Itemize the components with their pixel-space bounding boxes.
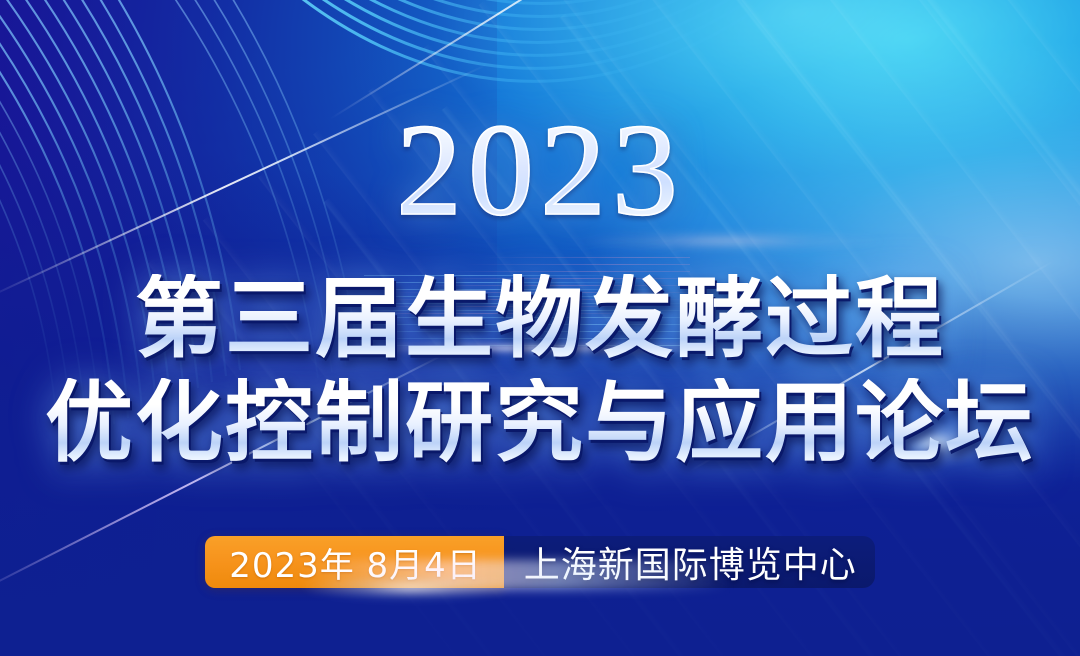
- main-title-line-2: 优化控制研究与应用论坛: [0, 378, 1080, 468]
- poster-content: 2023 第三届生物发酵过程 优化控制研究与应用论坛 2023年 8月4日 上海…: [0, 0, 1080, 656]
- main-title-line-1: 第三届生物发酵过程: [0, 274, 1080, 364]
- event-info-bar: 2023年 8月4日 上海新国际博览中心: [0, 536, 1080, 588]
- glow-spot-bottom: [300, 575, 520, 601]
- event-poster: 2023 第三届生物发酵过程 优化控制研究与应用论坛 2023年 8月4日 上海…: [0, 0, 1080, 656]
- event-venue-badge: 上海新国际博览中心: [504, 536, 875, 588]
- main-title-block: 第三届生物发酵过程 优化控制研究与应用论坛: [0, 274, 1080, 468]
- year-heading-wrapper: 2023: [0, 104, 1080, 254]
- year-heading: 2023: [396, 104, 684, 236]
